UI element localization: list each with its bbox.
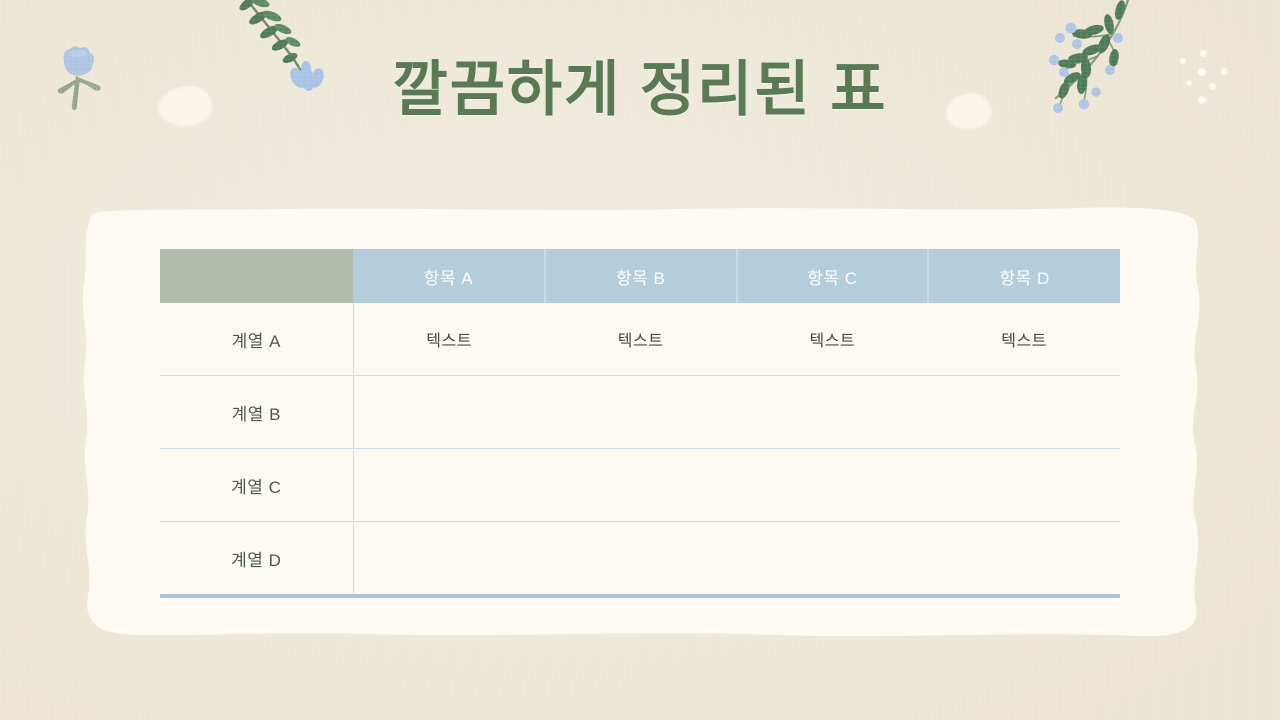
cell-a-b[interactable]: 텍스트 — [545, 303, 737, 376]
cell-b-d[interactable] — [928, 376, 1120, 449]
dot-cluster-dot-1 — [1200, 50, 1207, 57]
row-label-b: 계열 B — [160, 376, 353, 449]
column-header-d[interactable]: 항목 D — [928, 249, 1120, 303]
cell-a-a[interactable]: 텍스트 — [353, 303, 545, 376]
table-row: 계열 A 텍스트 텍스트 텍스트 텍스트 — [160, 303, 1120, 376]
slide-canvas: 깔끔하게 정리된 표 항목 A 항목 B 항목 C 항목 D 계열 A 텍스트 — [0, 0, 1280, 720]
table-row: 계열 B — [160, 376, 1120, 449]
data-table: 항목 A 항목 B 항목 C 항목 D 계열 A 텍스트 텍스트 텍스트 텍스트… — [160, 249, 1120, 598]
cell-a-d[interactable]: 텍스트 — [928, 303, 1120, 376]
cell-a-c[interactable]: 텍스트 — [737, 303, 929, 376]
cell-d-d[interactable] — [928, 522, 1120, 597]
table-head: 항목 A 항목 B 항목 C 항목 D — [160, 249, 1120, 303]
cell-c-b[interactable] — [545, 449, 737, 522]
cell-b-c[interactable] — [737, 376, 929, 449]
table-body: 계열 A 텍스트 텍스트 텍스트 텍스트 계열 B 계열 C — [160, 303, 1120, 596]
table-row: 계열 C — [160, 449, 1120, 522]
column-header-c[interactable]: 항목 C — [737, 249, 929, 303]
cell-c-a[interactable] — [353, 449, 545, 522]
column-header-a[interactable]: 항목 A — [353, 249, 545, 303]
cell-b-a[interactable] — [353, 376, 545, 449]
table-row: 계열 D — [160, 522, 1120, 597]
column-header-b[interactable]: 항목 B — [545, 249, 737, 303]
page-title: 깔끔하게 정리된 표 — [0, 58, 1280, 121]
row-label-d: 계열 D — [160, 522, 353, 597]
data-table-container: 항목 A 항목 B 항목 C 항목 D 계열 A 텍스트 텍스트 텍스트 텍스트… — [160, 249, 1120, 598]
cell-d-a[interactable] — [353, 522, 545, 597]
table-corner-cell — [160, 249, 353, 303]
cell-c-d[interactable] — [928, 449, 1120, 522]
row-label-c: 계열 C — [160, 449, 353, 522]
cell-d-b[interactable] — [545, 522, 737, 597]
table-header-row: 항목 A 항목 B 항목 C 항목 D — [160, 249, 1120, 303]
cell-c-c[interactable] — [737, 449, 929, 522]
cell-b-b[interactable] — [545, 376, 737, 449]
cell-d-c[interactable] — [737, 522, 929, 597]
row-label-a: 계열 A — [160, 303, 353, 376]
